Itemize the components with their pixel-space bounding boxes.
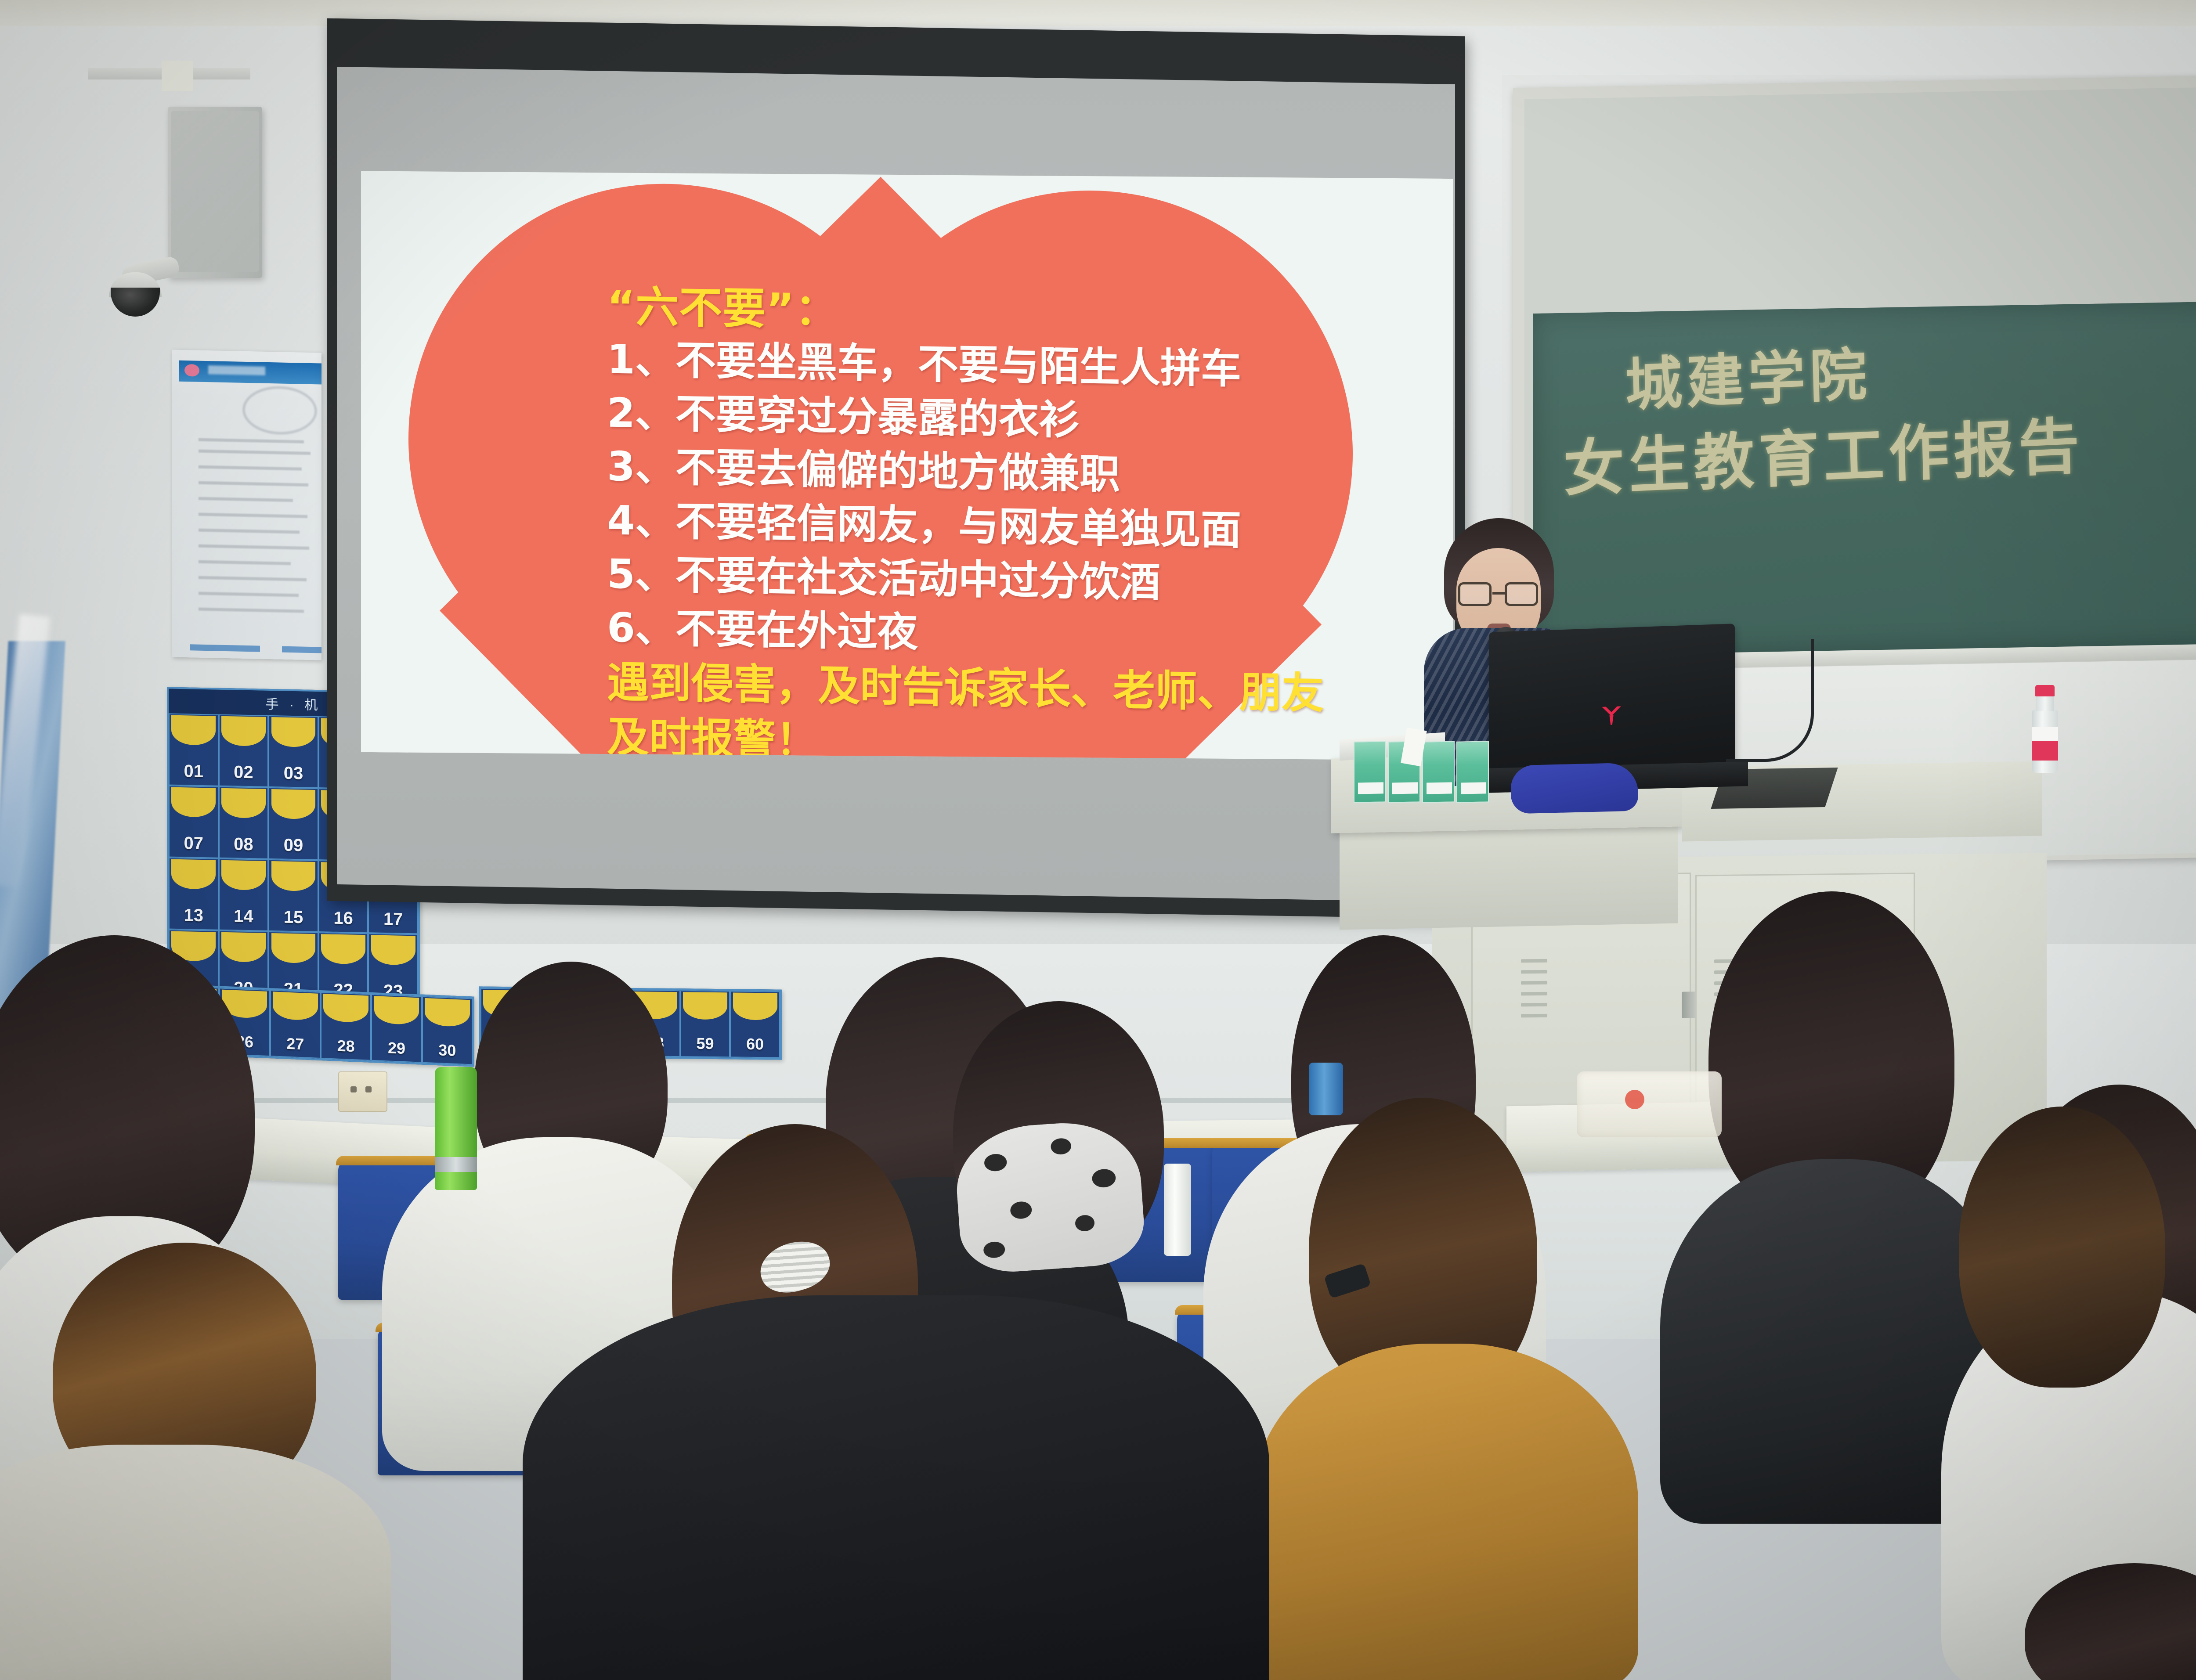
- phone-pocket-cell[interactable]: 08: [219, 786, 269, 859]
- conduit-junction-box: [162, 61, 193, 91]
- phone-pocket-cell[interactable]: 02: [219, 714, 269, 787]
- poster-footer-bar: [190, 644, 260, 652]
- bottle-label-red: [2032, 741, 2058, 761]
- phone-pocket-cell[interactable]: 59: [680, 990, 730, 1057]
- phone-pocket-number: 07: [184, 833, 204, 854]
- poster-text-line: [199, 438, 304, 443]
- phone-pocket-cell[interactable]: 60: [730, 991, 780, 1058]
- phone-pocket-cell[interactable]: 07: [169, 786, 219, 858]
- phone-pocket-number: 17: [383, 909, 403, 930]
- poster-text-line: [199, 450, 311, 455]
- power-outlet-icon: [338, 1071, 387, 1112]
- phone-pocket-number: 27: [286, 1035, 304, 1054]
- phone-pocket-cell[interactable]: 03: [268, 715, 318, 788]
- phone-pocket-cell[interactable]: 15: [268, 859, 318, 932]
- poster-text-line: [199, 529, 300, 534]
- laptop-power-cable: [1726, 639, 1814, 762]
- phone-pocket-cell[interactable]: 28: [321, 992, 371, 1061]
- poster-text-line: [199, 592, 299, 597]
- classroom-photo: 手 · 机 0102030405070809101113141516171920…: [0, 0, 2196, 1680]
- poster-text-line: [199, 481, 308, 487]
- chalk-box: [1456, 741, 1489, 803]
- phone-pocket-number: 08: [234, 834, 253, 854]
- notice-poster: [172, 350, 321, 660]
- bottle-label-white: [2032, 727, 2058, 742]
- chalk-box: [1354, 741, 1386, 803]
- phone-pocket-number: 29: [388, 1038, 405, 1058]
- water-bottle-icon: [2029, 685, 2061, 773]
- poster-seal-icon: [242, 386, 317, 436]
- phone-pocket-number: 16: [333, 908, 353, 929]
- laptop-icon[interactable]: [1489, 624, 1735, 782]
- phone-pocket-number: 03: [284, 764, 303, 784]
- thermos-icon: [435, 1067, 477, 1190]
- phone-pocket-number: 09: [284, 836, 303, 856]
- blue-cloth: [1511, 762, 1638, 814]
- projected-slide: “六不要”： 1、不要坐黑车，不要与陌生人拼车 2、不要穿过分暴露的衣衫 3、不…: [361, 162, 1453, 769]
- snack-bag-label-icon: [1625, 1090, 1644, 1109]
- phone-pocket-cell[interactable]: 14: [219, 858, 269, 931]
- phone-pocket-number: 13: [184, 905, 204, 926]
- projection-screen-surface: “六不要”： 1、不要坐黑车，不要与陌生人拼车 2、不要穿过分暴露的衣衫 3、不…: [337, 67, 1455, 902]
- travel-mug-icon: [1309, 1063, 1343, 1115]
- heart-mask-left: [361, 176, 408, 768]
- poster-text-line: [199, 608, 304, 613]
- cabinet-handle[interactable]: [1682, 991, 1697, 1018]
- poster-text-line: [199, 513, 307, 518]
- phone-pocket-number: 28: [337, 1037, 355, 1056]
- speaker-grille: [171, 111, 259, 272]
- wall-speaker-icon: [168, 107, 262, 278]
- phone-pocket-cell[interactable]: 09: [268, 787, 318, 860]
- phone-pocket-cell[interactable]: 13: [169, 858, 219, 930]
- poster-text-line: [199, 497, 293, 502]
- phone-pocket-number: 60: [746, 1035, 764, 1053]
- bottle-neck: [2036, 696, 2054, 711]
- projection-screen-frame: “六不要”： 1、不要坐黑车，不要与陌生人拼车 2、不要穿过分暴露的衣衫 3、不…: [327, 18, 1465, 919]
- poster-text-line: [199, 560, 291, 565]
- phone-pocket-number: 59: [696, 1035, 714, 1053]
- poster-text-line: [199, 465, 302, 471]
- chalk-box: [1422, 741, 1455, 803]
- phone-pocket-number: 15: [284, 908, 303, 928]
- phone-pocket-number: 01: [184, 761, 204, 782]
- phone-pocket-cell[interactable]: 30: [422, 996, 473, 1065]
- phone-pocket-cell[interactable]: 01: [169, 714, 219, 786]
- glasses-icon: [1457, 582, 1539, 607]
- thermos-band: [435, 1157, 477, 1172]
- poster-title-blur: [208, 365, 265, 375]
- laptop-brand-logo-icon: [1599, 702, 1624, 728]
- slide-text-block: “六不要”： 1、不要坐黑车，不要与陌生人拼车 2、不要穿过分暴露的衣衫 3、不…: [607, 282, 1354, 769]
- bottle-cap: [2035, 685, 2055, 696]
- poster-text-line: [199, 576, 307, 581]
- phone-pocket-cell[interactable]: 29: [371, 994, 422, 1063]
- paper-cup-icon: [1164, 1164, 1191, 1256]
- phone-pocket-number: 30: [438, 1041, 456, 1060]
- snack-bag-icon: [1577, 1071, 1722, 1137]
- phone-pocket-number: 14: [234, 906, 253, 927]
- poster-footer-bar: [282, 646, 321, 653]
- phone-pocket-number: 02: [234, 762, 253, 782]
- phone-pocket-cell[interactable]: 27: [270, 990, 321, 1059]
- lectern-body: [1340, 822, 1678, 930]
- poster-logo-icon: [184, 364, 199, 377]
- poster-text-line: [199, 544, 309, 550]
